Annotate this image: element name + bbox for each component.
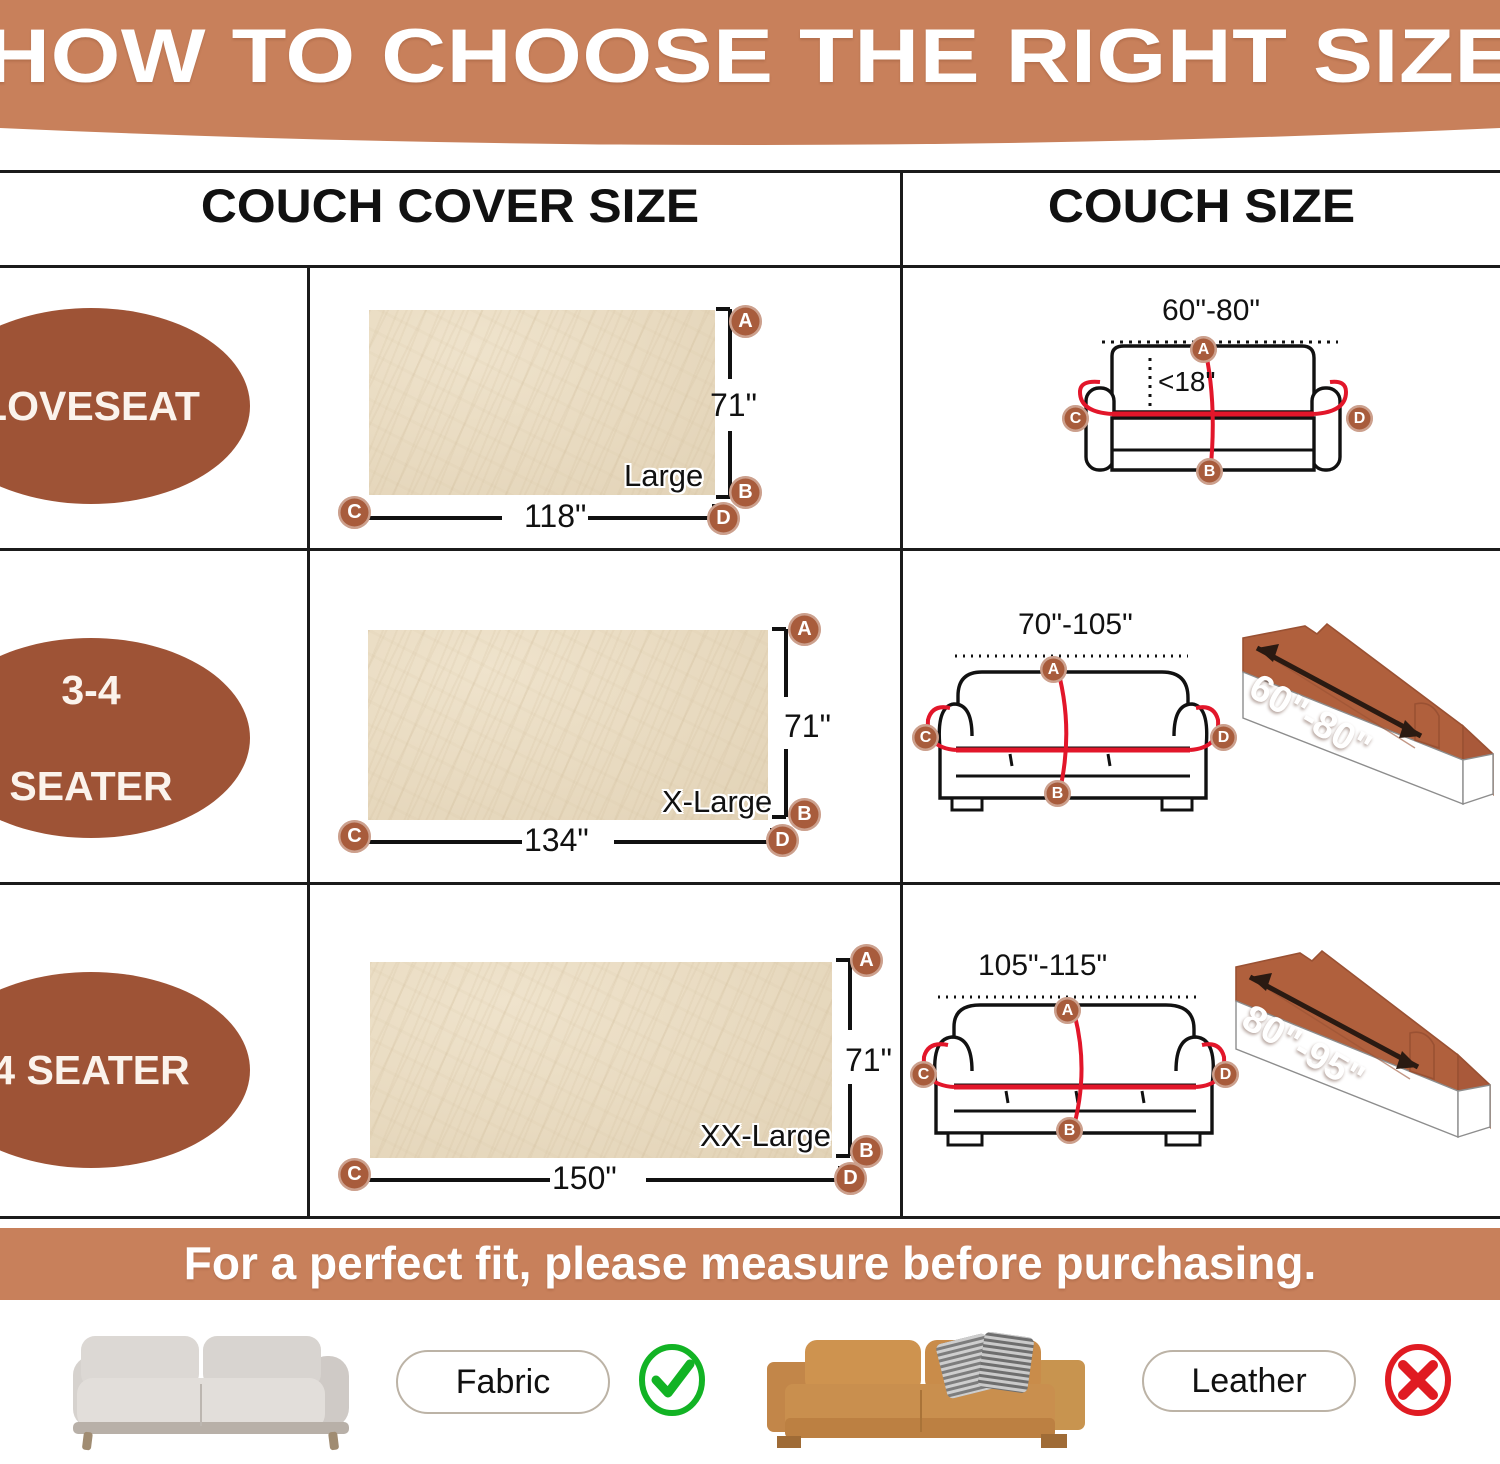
marker-d-couch-row1: D xyxy=(1346,405,1373,432)
page-header: HOW TO CHOOSE THE RIGHT SIZE xyxy=(0,0,1500,160)
table-top-border xyxy=(0,170,1500,173)
row-label-loveseat-text: LOVESEAT xyxy=(0,383,200,429)
marker-c-couch-row3: C xyxy=(910,1061,937,1088)
marker-a-row3: A xyxy=(850,944,883,977)
fabric-label-pill: Fabric xyxy=(396,1350,610,1414)
couch-width-range-row1: 60"-80" xyxy=(1162,294,1260,328)
leather-sofa-image xyxy=(745,1314,1105,1454)
cover-height-row2: 71" xyxy=(784,708,831,745)
marker-a-row2: A xyxy=(788,613,821,646)
column-header-couch-cover-size: COUCH COVER SIZE xyxy=(0,178,927,233)
cover-width-row1: 118" xyxy=(524,498,586,535)
row-label-3-4-seater-line1: 3-4 xyxy=(9,666,172,714)
marker-c-row3: C xyxy=(338,1158,371,1191)
marker-c-row2: C xyxy=(338,820,371,853)
cover-width-row2: 134" xyxy=(524,822,589,859)
marker-a-couch-row2: A xyxy=(1040,656,1067,683)
cover-height-row3: 71" xyxy=(845,1042,892,1079)
leather-label-text: Leather xyxy=(1191,1362,1306,1401)
marker-b-couch-row3: B xyxy=(1056,1117,1083,1144)
marker-d-row1: D xyxy=(707,502,740,535)
couch-width-range-row3: 105"-115" xyxy=(978,949,1107,983)
marker-b-row1: B xyxy=(729,476,762,509)
cover-width-row3: 150" xyxy=(552,1160,617,1197)
leather-cross-icon xyxy=(1380,1342,1456,1418)
couch-3d-diagram-row2: 60"-80" xyxy=(1235,608,1500,844)
table-row-divider-2 xyxy=(0,882,1500,885)
marker-c-row1: C xyxy=(338,496,371,529)
marker-b-couch-row1: B xyxy=(1196,458,1223,485)
material-footer: Fabric Leather xyxy=(0,1300,1500,1464)
page-title: HOW TO CHOOSE THE RIGHT SIZE xyxy=(0,14,1500,100)
table-header-divider xyxy=(0,265,1500,268)
fabric-check-icon xyxy=(634,1342,710,1418)
marker-c-couch-row2: C xyxy=(912,724,939,751)
measure-banner-text: For a perfect fit, please measure before… xyxy=(0,1236,1500,1290)
swatch-size-name-large: Large xyxy=(624,458,703,494)
couch-depth-row1: <18" xyxy=(1158,366,1215,398)
couch-diagram-row1: 60"-80" <18" A B C D xyxy=(1040,300,1400,515)
row-label-3-4-seater: 3-4 SEATER xyxy=(0,638,250,838)
marker-d-row3: D xyxy=(834,1162,867,1195)
couch-width-range-row2: 70"-105" xyxy=(1018,608,1133,642)
swatch-size-name-xlarge: X-Large xyxy=(662,784,772,820)
marker-b-row2: B xyxy=(788,798,821,831)
marker-d-couch-row2: D xyxy=(1210,724,1237,751)
couch-diagram-row3: 105"-115" A B C D xyxy=(910,935,1240,1165)
cover-height-row1: 71" xyxy=(710,387,757,424)
fabric-label-text: Fabric xyxy=(456,1363,550,1402)
row-label-loveseat: LOVESEAT xyxy=(0,308,250,504)
marker-a-couch-row1: A xyxy=(1190,336,1217,363)
marker-a-couch-row3: A xyxy=(1054,997,1081,1024)
couch-3d-diagram-row3: 80"-95" xyxy=(1228,935,1500,1181)
table-col-divider-label xyxy=(307,265,310,1216)
marker-d-row2: D xyxy=(766,824,799,857)
marker-b-couch-row2: B xyxy=(1044,780,1071,807)
table-row-divider-1 xyxy=(0,548,1500,551)
row-label-3-4-seater-line2: SEATER xyxy=(9,762,172,810)
swatch-size-name-xxlarge: XX-Large xyxy=(700,1118,831,1154)
table-col-divider-main xyxy=(900,170,903,1216)
fabric-sofa-image xyxy=(45,1314,375,1454)
row-label-4-seater: 4 SEATER xyxy=(0,972,250,1168)
column-header-couch-size: COUCH SIZE xyxy=(885,178,1500,233)
leather-label-pill: Leather xyxy=(1142,1350,1356,1412)
marker-a-row1: A xyxy=(729,305,762,338)
row-label-4-seater-text: 4 SEATER xyxy=(0,1047,190,1093)
couch-diagram-row2: 70"-105" A B C D xyxy=(910,608,1240,828)
table-bottom-border xyxy=(0,1216,1500,1219)
marker-c-couch-row1: C xyxy=(1062,405,1089,432)
